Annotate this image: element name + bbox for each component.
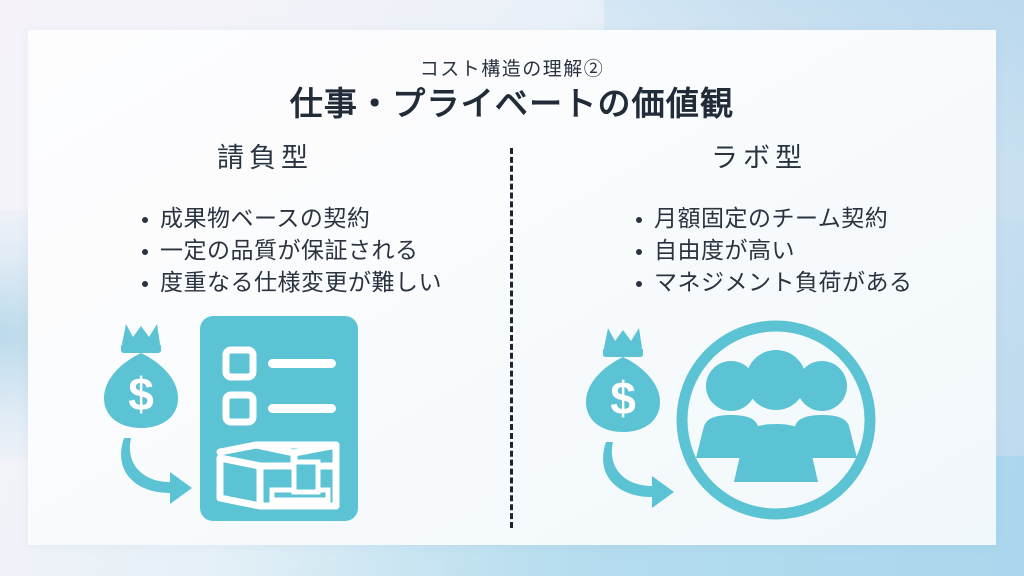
team-illustration-svg: $ (586, 318, 886, 523)
curved-arrow-icon (121, 438, 192, 504)
bullet-list-right: 月額固定のチーム契約 自由度が高い マネジメント負荷がある (632, 203, 994, 299)
slide-stage: コスト構造の理解② 仕事・プライベートの価値観 請負型 成果物ベースの契約 一定… (0, 0, 1024, 576)
curved-arrow-icon (603, 442, 674, 508)
list-item: 月額固定のチーム契約 (632, 203, 994, 235)
slide-card: コスト構造の理解② 仕事・プライベートの価値観 請負型 成果物ベースの契約 一定… (28, 30, 996, 545)
list-item: 成果物ベースの契約 (138, 203, 500, 235)
illustration-money-to-deliverable: $ (30, 310, 500, 540)
column-heading-left: 請負型 (30, 130, 500, 175)
list-item: 自由度が高い (632, 235, 994, 267)
team-circle-icon (682, 326, 870, 514)
bullet-list-left: 成果物ベースの契約 一定の品質が保証される 度重なる仕様変更が難しい (138, 203, 500, 299)
checklist-document-icon (200, 316, 358, 521)
money-bag-icon: $ (104, 324, 178, 428)
money-bag-icon: $ (586, 328, 660, 432)
svg-text:$: $ (128, 368, 154, 420)
list-item: 一定の品質が保証される (138, 235, 500, 267)
list-item: 度重なる仕様変更が難しい (138, 267, 500, 299)
illustration-money-to-team: $ (524, 310, 994, 540)
vertical-dashed-divider (510, 148, 513, 528)
column-heading-right: ラボ型 (524, 130, 994, 175)
deliverable-illustration-svg: $ (100, 310, 390, 535)
list-item: マネジメント負荷がある (632, 267, 994, 299)
page-title: 仕事・プライベートの価値観 (28, 77, 996, 125)
svg-text:$: $ (610, 372, 636, 424)
